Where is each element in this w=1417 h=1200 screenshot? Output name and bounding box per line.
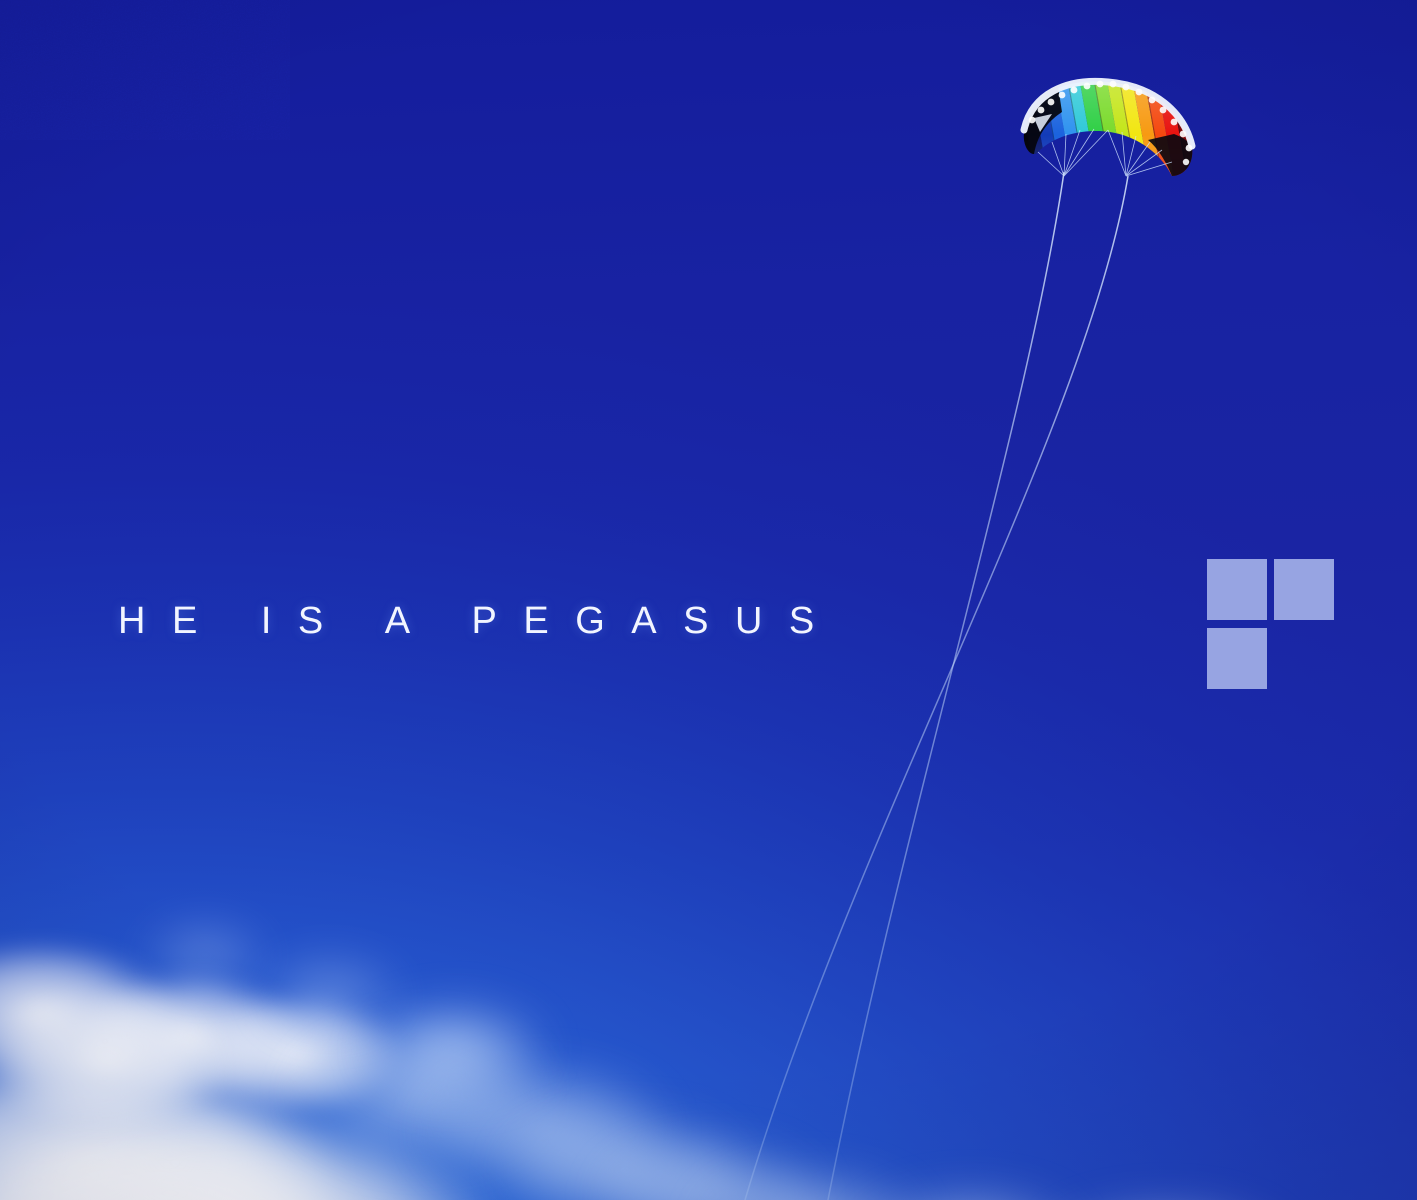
page-title: HE IS A PEGASUS	[118, 602, 841, 640]
logo-square-top-right	[1274, 559, 1334, 620]
rainbow-kite	[1008, 72, 1208, 212]
poster-canvas: HE IS A PEGASUS	[0, 0, 1417, 1200]
logo-square-bottom-left	[1207, 628, 1267, 689]
three-square-logo[interactable]	[1207, 559, 1335, 689]
logo-square-top-left	[1207, 559, 1267, 620]
